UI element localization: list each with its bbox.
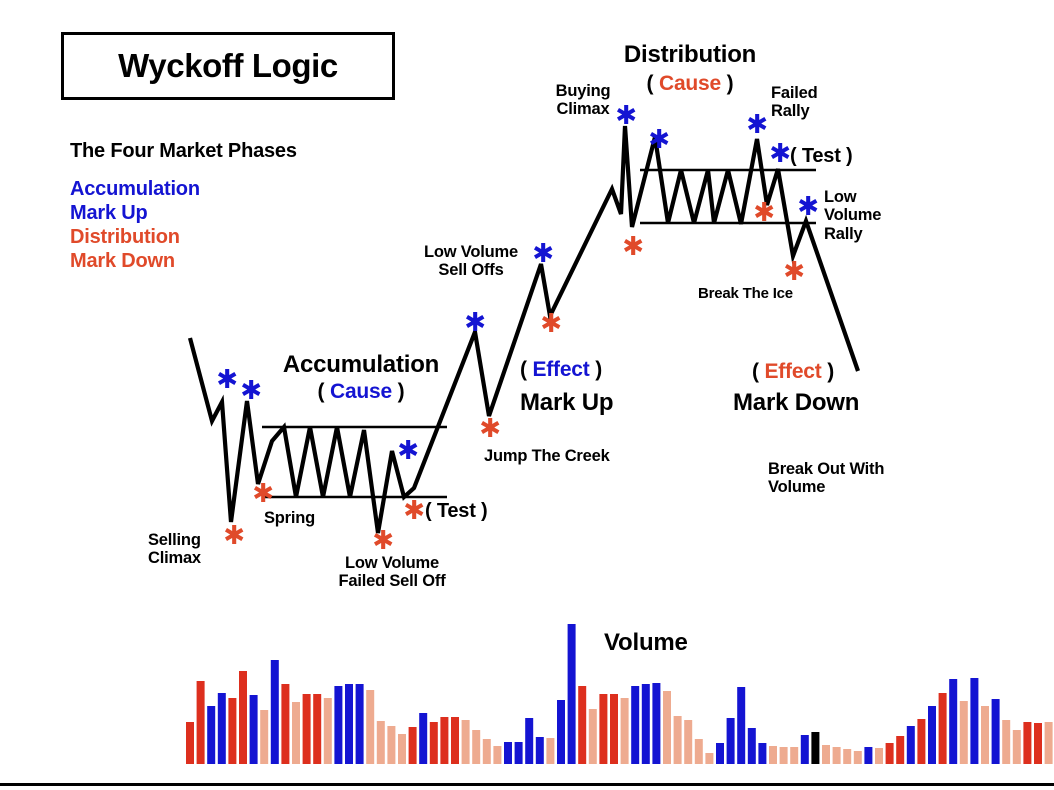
volume-bar: [356, 684, 364, 764]
volume-bar: [271, 660, 279, 764]
volume-bar: [419, 713, 427, 764]
title-box: Wyckoff Logic: [61, 32, 395, 100]
marker-blue-lv-selloffs: ✱: [532, 241, 554, 267]
volume-bar: [525, 718, 533, 764]
marker-orange-lv-selloffs: ✱: [540, 311, 562, 337]
heading-mark-up: Mark Up: [520, 390, 613, 417]
subheading-mark-down-effect: ( Effect ): [752, 360, 834, 384]
volume-bar: [303, 694, 311, 764]
paren-open: (: [752, 360, 764, 383]
volume-bar: [886, 743, 894, 764]
volume-bar: [472, 730, 480, 764]
volume-bar: [493, 746, 501, 764]
volume-bar: [504, 742, 512, 764]
legend-item-accumulation: Accumulation: [70, 178, 200, 200]
annotation-jump-the-creek: Jump The Creek: [484, 447, 610, 465]
volume-bar: [758, 743, 766, 764]
volume-bar: [992, 699, 1000, 764]
volume-bar: [631, 686, 639, 764]
volume-bar: [546, 738, 554, 764]
marker-blue-1: ✱: [216, 367, 238, 393]
marker-blue-after-climax: ✱: [648, 127, 670, 153]
volume-bar: [822, 745, 830, 764]
volume-bar: [599, 694, 607, 764]
volume-bar: [1023, 722, 1031, 764]
annotation-selling-climax: Selling Climax: [148, 531, 201, 568]
volume-bar: [928, 706, 936, 764]
subheading-accumulation-cause: ( Cause ): [276, 380, 446, 404]
volume-bar: [981, 706, 989, 764]
volume-bar: [197, 681, 205, 764]
marker-blue-failed-rally: ✱: [746, 112, 768, 138]
volume-bar: [334, 686, 342, 764]
marker-orange-spring: ✱: [252, 481, 274, 507]
volume-bar: [949, 679, 957, 764]
volume-bar: [578, 686, 586, 764]
bottom-divider: [0, 783, 1054, 786]
volume-bar: [483, 739, 491, 764]
volume-bar: [652, 683, 660, 764]
cause-word: Cause: [330, 380, 392, 403]
annotation-low-volume-rally: Low Volume Rally: [824, 188, 881, 243]
volume-bar: [875, 748, 883, 764]
volume-bar: [801, 735, 809, 764]
volume-bar: [186, 722, 194, 764]
annotation-low-volume-failed-sell-off: Low Volume Failed Sell Off: [322, 554, 462, 591]
volume-bar: [228, 698, 236, 764]
marker-orange-dist-low: ✱: [753, 200, 775, 226]
subheading-mark-up-effect: ( Effect ): [520, 358, 602, 382]
heading-distribution: Distribution: [600, 42, 780, 69]
volume-bar: [610, 694, 618, 764]
volume-bar: [218, 693, 226, 764]
volume-bar: [589, 709, 597, 764]
marker-orange-break-ice: ✱: [783, 259, 805, 285]
volume-bar: [748, 728, 756, 764]
volume-bar: [917, 719, 925, 764]
volume-bar: [907, 726, 915, 764]
legend-heading: The Four Market Phases: [70, 140, 297, 162]
volume-bar: [896, 736, 904, 764]
marker-blue-test-acc: ✱: [397, 438, 419, 464]
volume-bar: [260, 710, 268, 764]
wyckoff-logic-diagram: Wyckoff Logic The Four Market Phases Acc…: [0, 0, 1054, 790]
heading-accumulation: Accumulation: [276, 352, 446, 379]
volume-bar: [250, 695, 258, 764]
volume-bar: [430, 722, 438, 764]
volume-bar: [462, 720, 470, 764]
volume-bar: [939, 693, 947, 764]
volume-bar: [727, 718, 735, 764]
volume-bar: [292, 702, 300, 764]
subheading-distribution-cause: ( Cause ): [600, 72, 780, 96]
volume-bar: [864, 747, 872, 764]
volume-bar: [663, 691, 671, 764]
paren-close: ): [822, 360, 834, 383]
volume-bar: [281, 684, 289, 764]
paren-open: (: [520, 358, 532, 381]
volume-bar: [1045, 722, 1053, 764]
annotation-buying-climax: Buying Climax: [547, 82, 619, 119]
effect-word: Effect: [764, 360, 821, 383]
marker-blue-buying-climax: ✱: [615, 103, 637, 129]
marker-blue-lv-rally: ✱: [797, 194, 819, 220]
volume-bar: [377, 721, 385, 764]
volume-bar: [557, 700, 565, 764]
annotation-break-the-ice: Break The Ice: [698, 286, 793, 303]
marker-orange-selling-climax: ✱: [223, 523, 245, 549]
volume-bar: [705, 753, 713, 764]
volume-bar: [769, 746, 777, 764]
volume-bar: [621, 698, 629, 764]
marker-blue-creek-high: ✱: [464, 310, 486, 336]
paren-open: (: [318, 380, 330, 403]
effect-word: Effect: [532, 358, 589, 381]
volume-bar: [674, 716, 682, 764]
volume-bar: [515, 742, 523, 764]
heading-mark-down: Mark Down: [733, 390, 859, 417]
volume-bar: [239, 671, 247, 764]
volume-bar: [854, 751, 862, 764]
volume-bar: [790, 747, 798, 764]
volume-bar: [313, 694, 321, 764]
volume-bar: [366, 690, 374, 764]
volume-bar: [387, 726, 395, 764]
volume-bar: [324, 698, 332, 764]
legend-item-mark-up: Mark Up: [70, 202, 148, 224]
cause-word: Cause: [659, 72, 721, 95]
volume-bar: [451, 717, 459, 764]
paren-close: ): [721, 72, 733, 95]
annotation-volume-caption: Volume: [604, 630, 688, 657]
volume-bar: [833, 747, 841, 764]
volume-bar: [780, 747, 788, 764]
annotation-test-accumulation: ( Test ): [425, 500, 487, 522]
paren-close: ): [590, 358, 602, 381]
volume-bar: [695, 739, 703, 764]
volume-bar: [1034, 723, 1042, 764]
marker-blue-test-dist: ✱: [769, 141, 791, 167]
annotation-low-volume-sell-offs: Low Volume Sell Offs: [410, 243, 532, 280]
legend-item-mark-down: Mark Down: [70, 250, 175, 272]
volume-bar: [811, 732, 819, 764]
marker-blue-2: ✱: [240, 378, 262, 404]
volume-bar: [440, 717, 448, 764]
volume-bar: [684, 720, 692, 764]
volume-bar: [737, 687, 745, 764]
volume-bar: [716, 743, 724, 764]
marker-orange-test-acc: ✱: [403, 498, 425, 524]
volume-bar: [568, 624, 576, 764]
volume-bar: [960, 701, 968, 764]
marker-orange-failed-selloff: ✱: [372, 528, 394, 554]
volume-bar: [207, 706, 215, 764]
volume-bar: [409, 727, 417, 764]
volume-bar: [345, 684, 353, 764]
annotation-break-out-with-volume: Break Out With Volume: [768, 460, 884, 497]
marker-orange-jump-creek: ✱: [479, 416, 501, 442]
volume-bar: [843, 749, 851, 764]
marker-orange-after-climax: ✱: [622, 234, 644, 260]
paren-close: ): [392, 380, 404, 403]
volume-bar: [536, 737, 544, 764]
annotation-test-distribution: ( Test ): [790, 145, 852, 167]
price-line: [190, 126, 858, 533]
volume-bar: [970, 678, 978, 764]
volume-bar: [1002, 720, 1010, 764]
volume-bar: [642, 684, 650, 764]
legend-item-distribution: Distribution: [70, 226, 180, 248]
volume-bar: [1013, 730, 1021, 764]
annotation-failed-rally: Failed Rally: [771, 84, 817, 121]
volume-bar: [398, 734, 406, 764]
annotation-spring: Spring: [264, 509, 315, 527]
paren-open: (: [647, 72, 659, 95]
page-title: Wyckoff Logic: [118, 47, 338, 85]
